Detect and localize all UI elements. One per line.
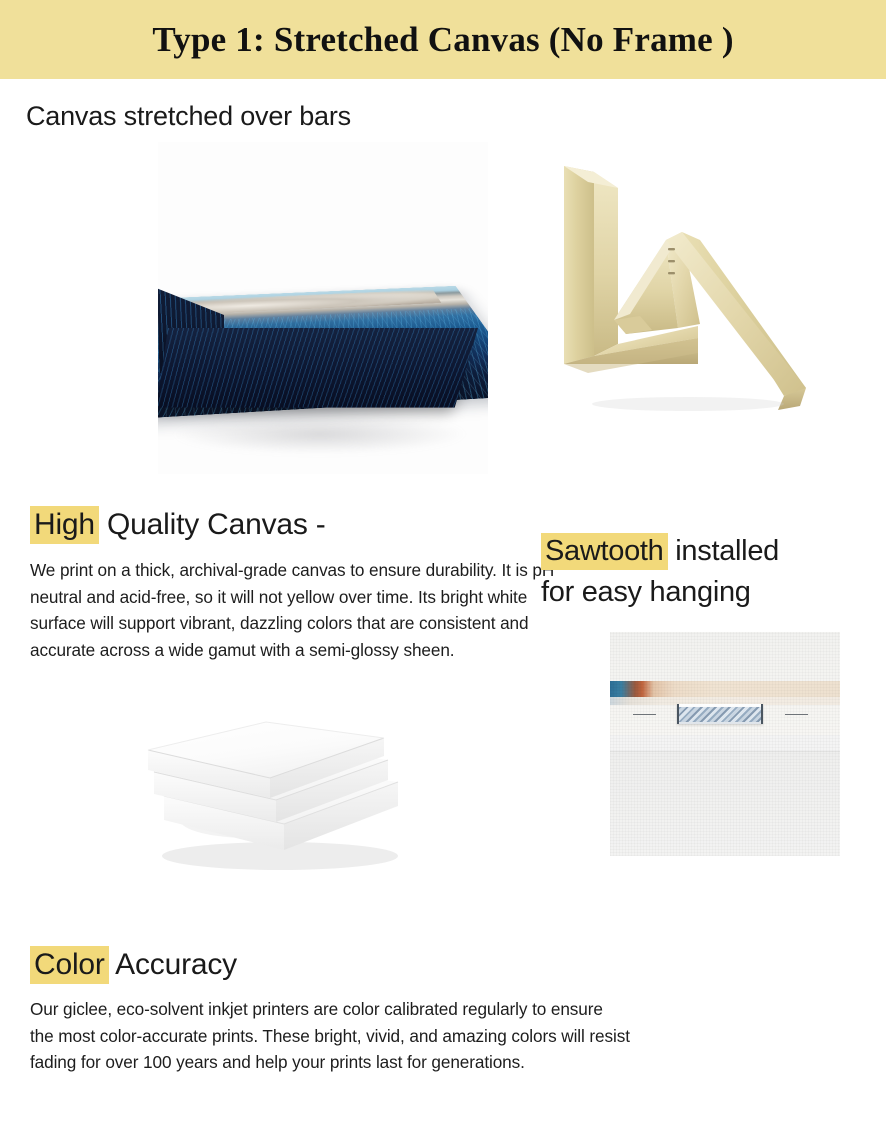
section-subtitle-canvas-over-bars: Canvas stretched over bars xyxy=(26,101,351,132)
canvas-weave-texture xyxy=(610,632,840,856)
page-title: Type 1: Stretched Canvas (No Frame ) xyxy=(152,20,733,60)
canvas-front-edge xyxy=(158,328,478,408)
heading-line2-easy-hanging: for easy hanging xyxy=(541,576,751,608)
header-band: Type 1: Stretched Canvas (No Frame ) xyxy=(0,0,886,79)
heading-rest-accuracy: Accuracy xyxy=(109,948,237,981)
canvas-corner-photo xyxy=(158,142,488,474)
heading-rest-quality-canvas: Quality Canvas - xyxy=(99,508,326,541)
heading-highlight-color: Color xyxy=(30,946,109,984)
sawtooth-teeth xyxy=(679,707,762,722)
canvas-drop-shadow xyxy=(171,414,468,454)
nail-mark-right xyxy=(785,714,808,716)
stretcher-bars-illustration xyxy=(548,148,838,428)
heading-highlight-high: High xyxy=(30,506,99,544)
nail-mark-left xyxy=(633,714,656,716)
heading-high-quality-canvas: High Quality Canvas - xyxy=(30,508,326,542)
sawtooth-hanger-icon xyxy=(677,704,764,724)
heading-highlight-sawtooth: Sawtooth xyxy=(541,533,668,570)
body-text-high-quality-canvas: We print on a thick, archival-grade canv… xyxy=(30,557,557,663)
infographic-page: Type 1: Stretched Canvas (No Frame ) Can… xyxy=(0,0,886,1128)
heading-rest-installed: installed xyxy=(668,535,779,567)
sawtooth-hanger-photo xyxy=(610,632,840,856)
body-text-color-accuracy: Our giclee, eco-solvent inkjet printers … xyxy=(30,996,630,1076)
white-canvas-stack-photo xyxy=(130,700,430,880)
canvas-corner-scene xyxy=(158,142,488,474)
heading-color-accuracy: Color Accuracy xyxy=(30,948,237,982)
stretcher-bars-photo xyxy=(548,148,838,428)
heading-sawtooth-hanging: Sawtooth installedfor easy hanging xyxy=(541,531,886,613)
white-canvas-stack-illustration xyxy=(130,700,430,880)
